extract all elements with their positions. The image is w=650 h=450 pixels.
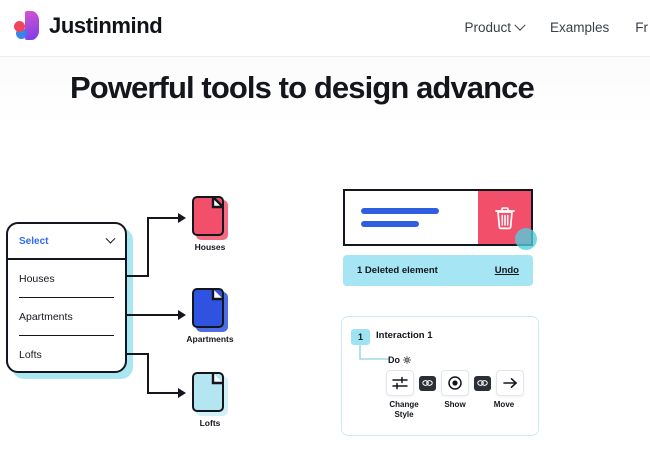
document-icon bbox=[192, 288, 224, 328]
document-fold-icon bbox=[195, 289, 223, 325]
document-fold-icon bbox=[195, 197, 223, 233]
logo[interactable]: Justinmind bbox=[14, 11, 162, 41]
cursor-dot-icon bbox=[515, 228, 537, 250]
file-icon-lofts-label: Lofts bbox=[200, 418, 221, 428]
gear-icon[interactable] bbox=[403, 356, 411, 364]
link-icon bbox=[419, 376, 436, 391]
nav-item-product[interactable]: Product bbox=[464, 20, 524, 35]
logo-red-dot bbox=[14, 21, 25, 32]
do-label: Do bbox=[388, 355, 411, 365]
page-title: Powerful tools to design advance bbox=[70, 70, 534, 106]
file-icon-apartments-label: Apartments bbox=[186, 334, 233, 344]
logo-leaf-shape bbox=[25, 11, 39, 40]
action-change-style[interactable] bbox=[386, 370, 414, 396]
link-icon bbox=[474, 376, 491, 391]
link-glyph-icon bbox=[422, 379, 433, 387]
connector-lines bbox=[0, 150, 340, 450]
action-move-label: Move bbox=[480, 400, 528, 420]
interaction-badge: 1 bbox=[351, 329, 370, 345]
nav-item-product-label: Product bbox=[464, 20, 511, 35]
sliders-icon bbox=[392, 375, 408, 391]
file-icon-apartments[interactable]: Apartments bbox=[192, 288, 228, 332]
nav-item-free-label: Fr bbox=[635, 20, 648, 35]
trash-icon bbox=[494, 206, 516, 230]
content-bar-primary bbox=[361, 208, 439, 214]
toast-message: 1 Deleted element bbox=[357, 265, 438, 276]
action-change-style-label-line1: Change bbox=[378, 400, 430, 410]
main-nav: Product Examples Fr bbox=[464, 20, 650, 35]
content-bar-secondary bbox=[361, 221, 419, 227]
do-label-text: Do bbox=[388, 355, 400, 365]
action-row bbox=[386, 370, 524, 396]
delete-demo-card bbox=[343, 189, 533, 246]
page-root: Justinmind Product Examples Fr Powerful … bbox=[0, 0, 650, 450]
file-icon-houses-label: Houses bbox=[195, 242, 226, 252]
chevron-down-icon bbox=[514, 19, 525, 30]
logo-wordmark: Justinmind bbox=[49, 13, 162, 39]
justinmind-logo-icon bbox=[14, 11, 42, 41]
undo-link[interactable]: Undo bbox=[495, 265, 519, 276]
nav-item-examples-label: Examples bbox=[550, 20, 609, 35]
interaction-elbow-connector bbox=[359, 345, 391, 367]
deleted-toast: 1 Deleted element Undo bbox=[343, 255, 533, 286]
action-move[interactable] bbox=[496, 370, 524, 396]
nav-item-free[interactable]: Fr bbox=[635, 20, 648, 35]
document-fold-icon bbox=[195, 373, 223, 409]
action-show[interactable] bbox=[441, 370, 469, 396]
action-change-style-label: Change Style bbox=[378, 400, 430, 420]
interaction-title: Interaction 1 bbox=[376, 330, 433, 341]
delete-button[interactable] bbox=[478, 191, 531, 244]
card-content bbox=[345, 191, 478, 244]
file-icon-lofts[interactable]: Lofts bbox=[192, 372, 228, 416]
action-show-label: Show bbox=[430, 400, 480, 420]
site-header: Justinmind Product Examples Fr bbox=[0, 0, 650, 56]
document-icon bbox=[192, 372, 224, 412]
action-change-style-label-line2: Style bbox=[378, 410, 430, 420]
action-labels: Change Style Show Move bbox=[378, 400, 528, 420]
eye-target-icon bbox=[447, 375, 463, 391]
interaction-panel: 1 Interaction 1 Do bbox=[341, 316, 539, 436]
file-icon-houses[interactable]: Houses bbox=[192, 196, 228, 240]
link-glyph-icon bbox=[477, 379, 488, 387]
nav-item-examples[interactable]: Examples bbox=[550, 20, 609, 35]
arrow-right-icon bbox=[502, 375, 519, 391]
document-icon bbox=[192, 196, 224, 236]
